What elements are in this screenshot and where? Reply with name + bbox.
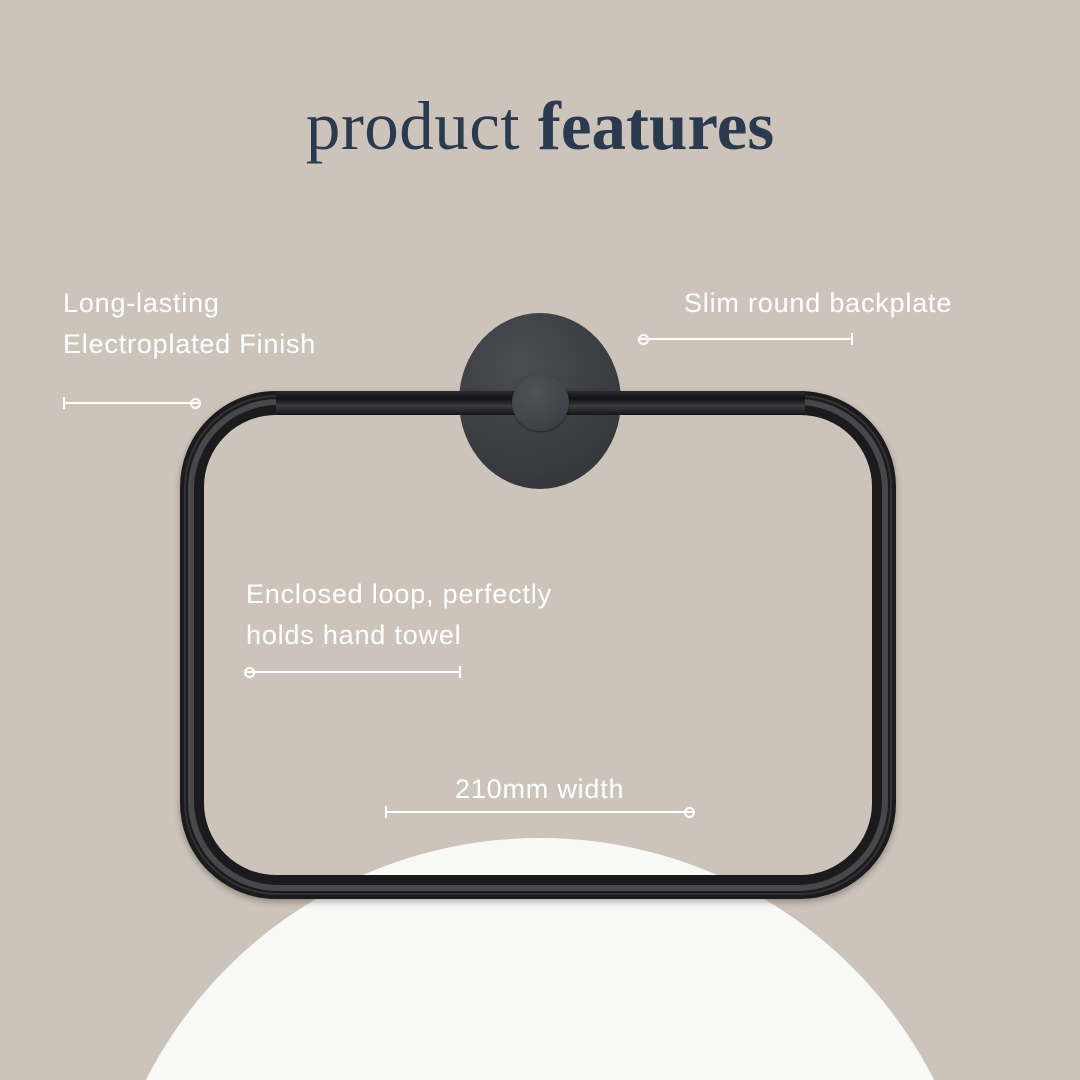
leader-line	[640, 338, 853, 340]
leader-line	[246, 671, 461, 673]
backplate-hub	[512, 374, 569, 431]
leader-line	[63, 402, 199, 404]
crossbar-right-segment	[555, 391, 805, 415]
callout-finish-line-1: Long-lasting	[63, 283, 316, 324]
leader-tick	[851, 333, 853, 345]
callout-loop-text: Enclosed loop, perfectly holds hand towe…	[246, 574, 552, 656]
leader-endpoint-dot	[684, 807, 695, 818]
callout-finish-text: Long-lasting Electroplated Finish	[63, 283, 316, 365]
callout-backplate-text: Slim round backplate	[684, 283, 952, 324]
callout-width-line-1: 210mm width	[455, 769, 624, 810]
callout-finish-line-2: Electroplated Finish	[63, 324, 316, 365]
callout-width-dimension-line	[385, 805, 693, 819]
callout-loop-line-1: Enclosed loop, perfectly	[246, 574, 552, 615]
product-feature-infographic: product features Long-lasting Electropla…	[0, 0, 1080, 1080]
leader-line	[385, 811, 693, 813]
callout-backplate-line-1: Slim round backplate	[684, 283, 952, 324]
callout-width-text: 210mm width	[455, 769, 624, 810]
crossbar-left-segment	[276, 391, 526, 415]
leader-endpoint-dot	[244, 667, 255, 678]
callout-finish-leader	[63, 396, 199, 410]
callout-backplate-leader	[640, 332, 853, 346]
callout-loop-leader	[246, 665, 461, 679]
leader-tick	[459, 666, 461, 678]
leader-endpoint-dot	[638, 334, 649, 345]
leader-tick	[63, 397, 65, 409]
product-illustration	[0, 0, 1080, 1080]
leader-tick	[385, 806, 387, 818]
callout-loop-line-2: holds hand towel	[246, 615, 552, 656]
leader-endpoint-dot	[190, 398, 201, 409]
